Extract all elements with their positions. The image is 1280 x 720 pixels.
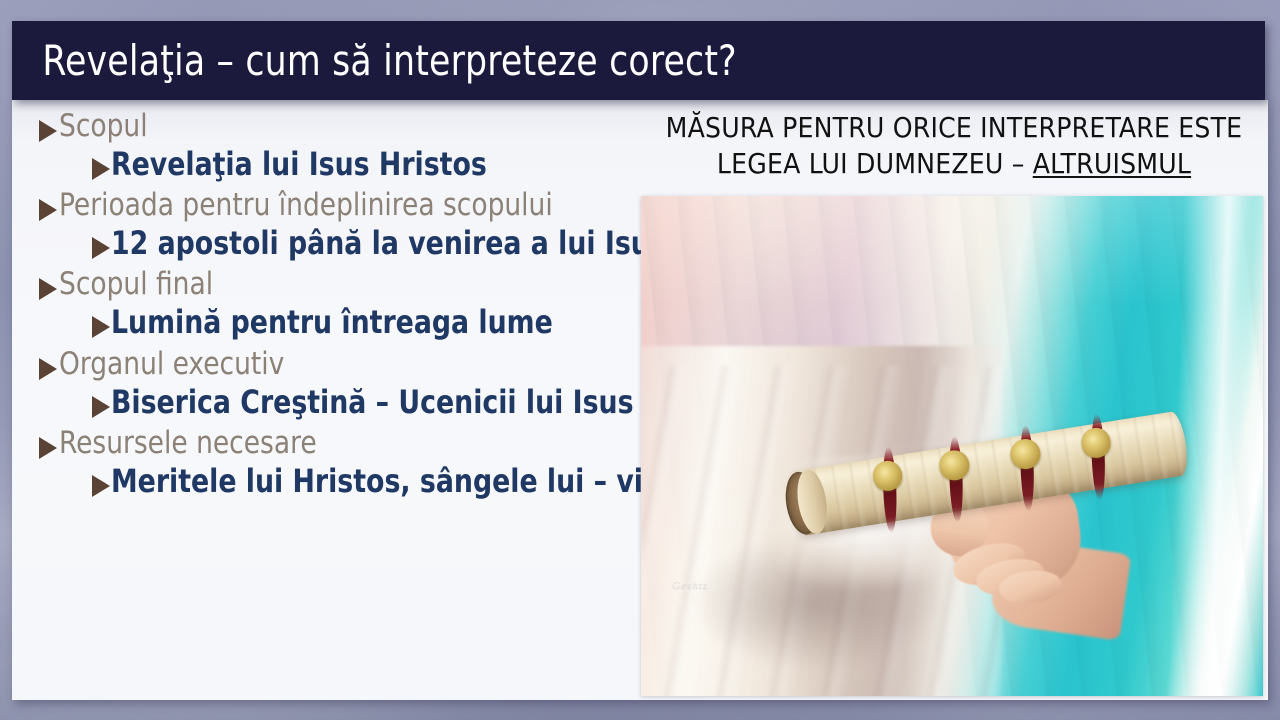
list-item-label: Biserica Creştină – Ucenicii lui Isus (111, 384, 634, 420)
list-item: 12 apostoli până la venirea a lui Isus (12, 225, 637, 261)
illustration-signature: Geshtz (672, 579, 708, 591)
list-item: Scopul final (12, 267, 637, 302)
list-item: Resursele necesare (12, 426, 637, 461)
heading-line-2-prefix: LEGEA LUI DUMNEZEU – (717, 147, 1033, 180)
list-item-label: Resursele necesare (59, 426, 317, 461)
list-item: Revelaţia lui Isus Hristos (12, 146, 637, 182)
list-item: Perioada pentru îndeplinirea scopului (12, 188, 637, 223)
list-item-label: Meritele lui Hristos, sângele lui – viaţ… (111, 463, 692, 499)
list-item: Meritele lui Hristos, sângele lui – viaţ… (12, 463, 637, 499)
heading-line-1: MĂSURA PENTRU ORICE INTERPRETARE ESTE (666, 111, 1243, 144)
right-panel: MĂSURA PENTRU ORICE INTERPRETARE ESTE LE… (640, 100, 1268, 700)
list-item: Biserica Creştină – Ucenicii lui Isus (12, 384, 637, 420)
triangle-right-icon (92, 475, 110, 497)
slide-root: Revelaţia – cum să interpreteze corect? … (0, 0, 1280, 720)
triangle-right-icon (39, 278, 57, 300)
slide-title-bar: Revelaţia – cum să interpreteze corect? (12, 21, 1265, 100)
triangle-right-icon (92, 158, 110, 180)
list-item-label: Organul executiv (59, 347, 284, 382)
list-item: Scopul (12, 109, 637, 144)
triangle-right-icon (39, 437, 57, 459)
list-item-label: Lumină pentru întreaga lume (111, 304, 553, 340)
bullet-list: Scopul Revelaţia lui Isus Hristos Perioa… (12, 100, 637, 700)
triangle-right-icon (92, 237, 110, 259)
triangle-right-icon (92, 396, 110, 418)
triangle-right-icon (92, 316, 110, 338)
illustration-hand-with-scroll: Geshtz (641, 196, 1263, 696)
triangle-right-icon (39, 358, 57, 380)
list-item: Organul executiv (12, 347, 637, 382)
page-title: Revelaţia – cum să interpreteze corect? (12, 36, 737, 85)
right-panel-heading: MĂSURA PENTRU ORICE INTERPRETARE ESTE LE… (644, 110, 1264, 182)
triangle-right-icon (39, 199, 57, 221)
list-item-label: Scopul (59, 109, 148, 144)
list-item-label: Revelaţia lui Isus Hristos (111, 146, 487, 182)
list-item-label: Perioada pentru îndeplinirea scopului (59, 188, 553, 223)
list-item-label: Scopul final (59, 267, 213, 302)
list-item: Lumină pentru întreaga lume (12, 304, 637, 340)
triangle-right-icon (39, 120, 57, 142)
heading-line-2-underlined: ALTRUISMUL (1033, 147, 1191, 180)
list-item-label: 12 apostoli până la venirea a lui Isus (111, 225, 666, 261)
